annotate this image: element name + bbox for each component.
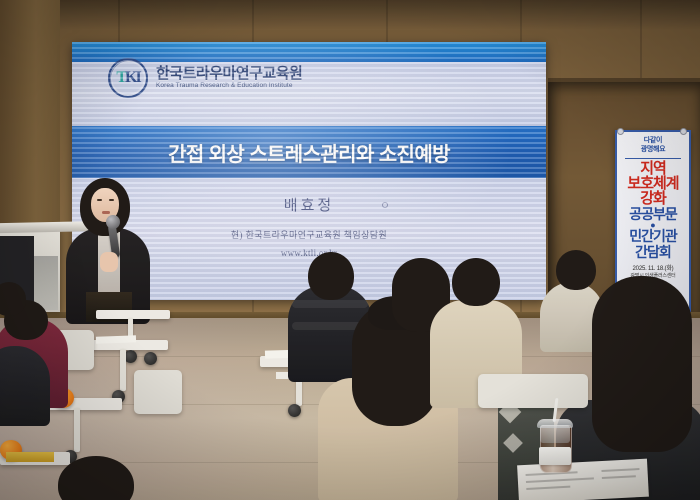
handout (96, 335, 136, 343)
banner-date: 2025. 11. 18.(화) (617, 263, 689, 272)
presenter-mouth (102, 211, 110, 214)
desk (96, 310, 170, 319)
mouse-cursor-icon (382, 202, 388, 208)
organization-block: 한국트라우마연구교육원 Korea Trauma Research & Educ… (156, 66, 302, 91)
desk-leg (120, 349, 126, 391)
banner-subhead-2: 민간기관 (617, 229, 689, 244)
slide-presenter-affiliation: 현) 한국트라우마연구교육원 책임상담원 (72, 228, 546, 241)
organization-name-en: Korea Trauma Research & Education Instit… (156, 83, 302, 90)
text-line (526, 486, 570, 490)
banner-headline-1: 지역 (617, 161, 689, 176)
logo-monogram: TKI (116, 69, 139, 87)
slide-logo-row: TKI 한국트라우마연구교육원 Korea Trauma Research & … (108, 58, 302, 98)
chair-back (478, 374, 588, 408)
presenter-hand (100, 252, 118, 272)
lecture-hall-photo: TKI 한국트라우마연구교육원 Korea Trauma Research & … (0, 0, 700, 500)
presenter-eye (109, 199, 114, 201)
ceiling-shadow (0, 0, 700, 30)
presenter-eye (97, 199, 102, 201)
cup-lid (537, 419, 573, 428)
organization-name-ko: 한국트라우마연구교육원 (156, 66, 302, 82)
audience-member-hair (452, 258, 500, 306)
slide-presenter-name: 배효정 (72, 194, 546, 215)
handout-foreground (517, 459, 649, 500)
desk-caster (288, 404, 301, 417)
audience-member-hair (556, 250, 596, 290)
desk-leg (74, 408, 80, 452)
banner-grommet (617, 128, 624, 135)
banner-headline-3: 강화 (617, 191, 689, 206)
banner-grommet (680, 128, 687, 135)
institute-logo-icon: TKI (108, 58, 148, 98)
banner-subhead-3: 간담회 (617, 245, 689, 260)
banner-divider (625, 158, 681, 159)
audience-member-hair (308, 252, 354, 300)
audience-member-hair (592, 276, 692, 452)
audience-member-body (0, 346, 50, 426)
puffer-seam (292, 300, 368, 308)
slide-title: 간접 외상 스트레스관리와 소진예방 (72, 138, 546, 167)
chair-back (134, 370, 182, 414)
notebook (6, 452, 54, 462)
text-line (602, 475, 636, 478)
cup-sleeve (539, 447, 571, 465)
banner-tagline-line1: 다같이 (617, 137, 689, 146)
microphone-head (106, 215, 120, 229)
text-line (526, 477, 594, 482)
text-line (601, 468, 639, 471)
banner-headline-2: 보호체계 (617, 176, 689, 191)
banner-tagline-line2: 광명해요 (617, 146, 689, 155)
desk-caster (144, 352, 157, 365)
